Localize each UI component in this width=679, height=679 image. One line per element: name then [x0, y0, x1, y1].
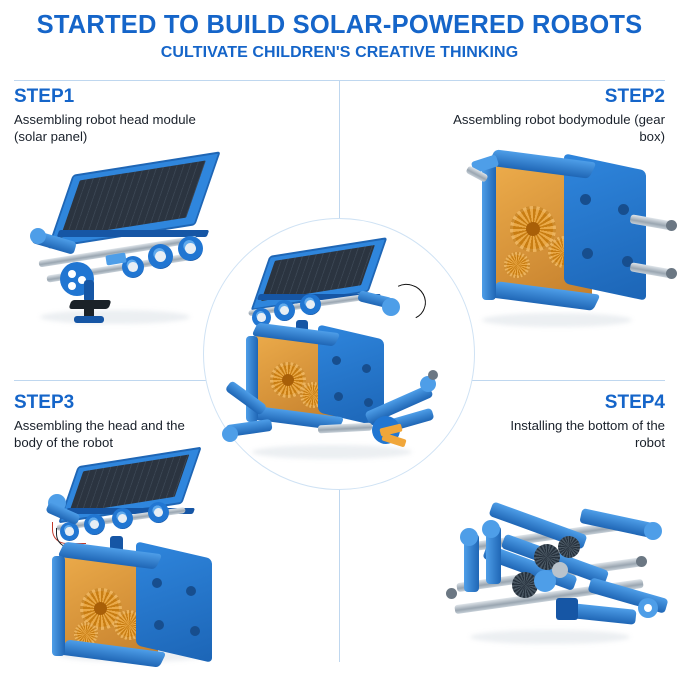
- step-1-image-solar-panel-head-module: [10, 160, 230, 330]
- step-1-description: Assembling robot head module (solar pane…: [14, 112, 224, 145]
- step-block-1: STEP1 Assembling robot head module (sola…: [14, 86, 224, 145]
- center-image-assembled-solar-robot: [222, 240, 462, 465]
- step-2-description: Assembling robot bodymodule (gear box): [435, 112, 665, 145]
- step-2-image-gear-box-body-module: [452, 148, 672, 333]
- step-3-description: Assembling the head and the body of the …: [14, 418, 194, 451]
- step-block-3: STEP3 Assembling the head and the body o…: [14, 392, 194, 451]
- page-subtitle: CULTIVATE CHILDREN'S CREATIVE THINKING: [0, 43, 679, 63]
- poster-root: STARTED TO BUILD SOLAR-POWERED ROBOTS CU…: [0, 0, 679, 679]
- step-4-title: STEP4: [495, 392, 665, 414]
- step-block-4: STEP4 Installing the bottom of the robot: [495, 392, 665, 451]
- step-2-title: STEP2: [435, 86, 665, 108]
- step-3-image-head-and-body-joined: [18, 452, 248, 667]
- page-title: STARTED TO BUILD SOLAR-POWERED ROBOTS: [0, 10, 679, 40]
- step-block-2: STEP2 Assembling robot bodymodule (gear …: [435, 86, 665, 145]
- step-4-image-robot-bottom-chassis: [430, 500, 670, 650]
- step-4-description: Installing the bottom of the robot: [495, 418, 665, 451]
- step-1-title: STEP1: [14, 86, 224, 108]
- step-3-title: STEP3: [14, 392, 194, 414]
- poster-header: STARTED TO BUILD SOLAR-POWERED ROBOTS CU…: [0, 10, 679, 63]
